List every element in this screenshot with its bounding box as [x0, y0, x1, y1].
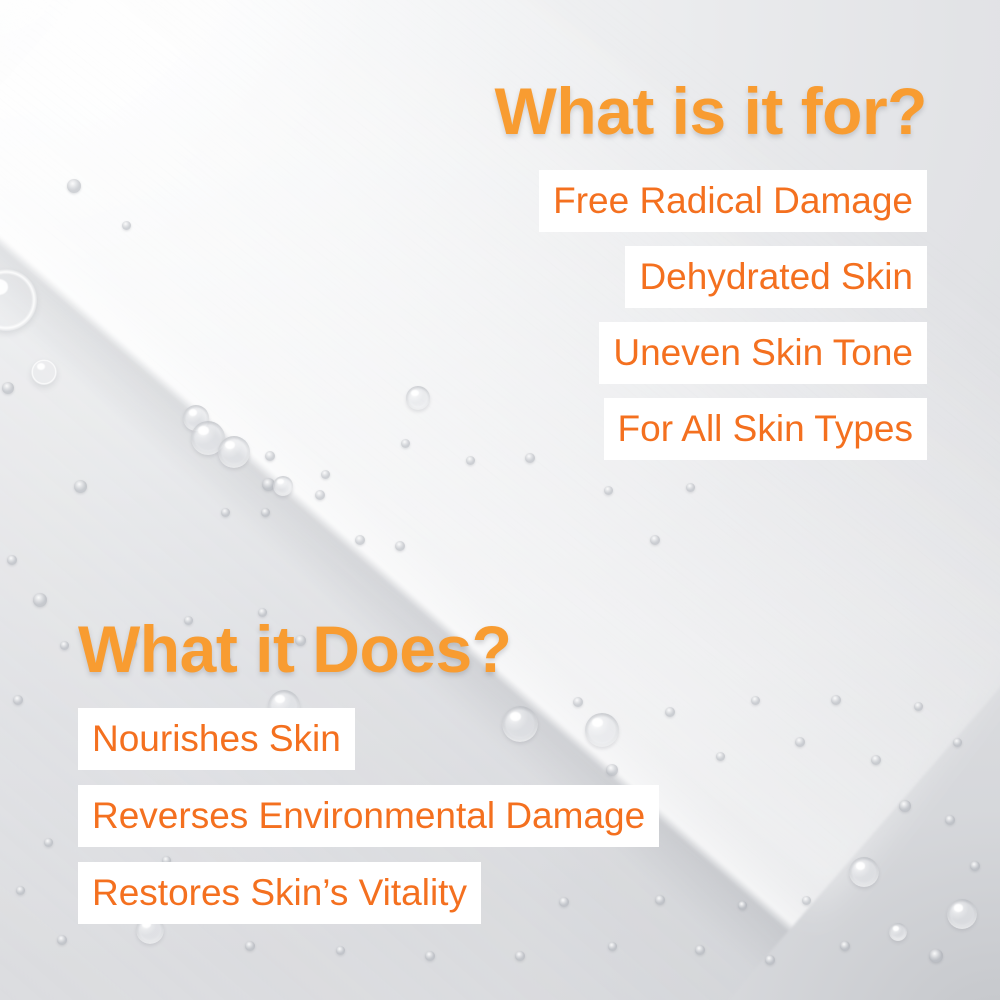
heading-what-it-does: What it Does?	[78, 616, 659, 682]
list-item: Dehydrated Skin	[625, 246, 927, 308]
list-item: Nourishes Skin	[78, 708, 355, 770]
list-what-it-does: Nourishes Skin Reverses Environmental Da…	[78, 708, 659, 924]
list-item: Restores Skin’s Vitality	[78, 862, 481, 924]
list-item: Reverses Environmental Damage	[78, 785, 659, 847]
list-item: For All Skin Types	[604, 398, 927, 460]
section-what-it-does: What it Does? Nourishes Skin Reverses En…	[78, 616, 659, 924]
list-what-is-it-for: Free Radical Damage Dehydrated Skin Unev…	[495, 170, 927, 460]
list-item: Free Radical Damage	[539, 170, 927, 232]
section-what-is-it-for: What is it for? Free Radical Damage Dehy…	[495, 78, 927, 460]
heading-what-is-it-for: What is it for?	[495, 78, 927, 144]
promo-poster: What is it for? Free Radical Damage Dehy…	[0, 0, 1000, 1000]
list-item: Uneven Skin Tone	[599, 322, 927, 384]
